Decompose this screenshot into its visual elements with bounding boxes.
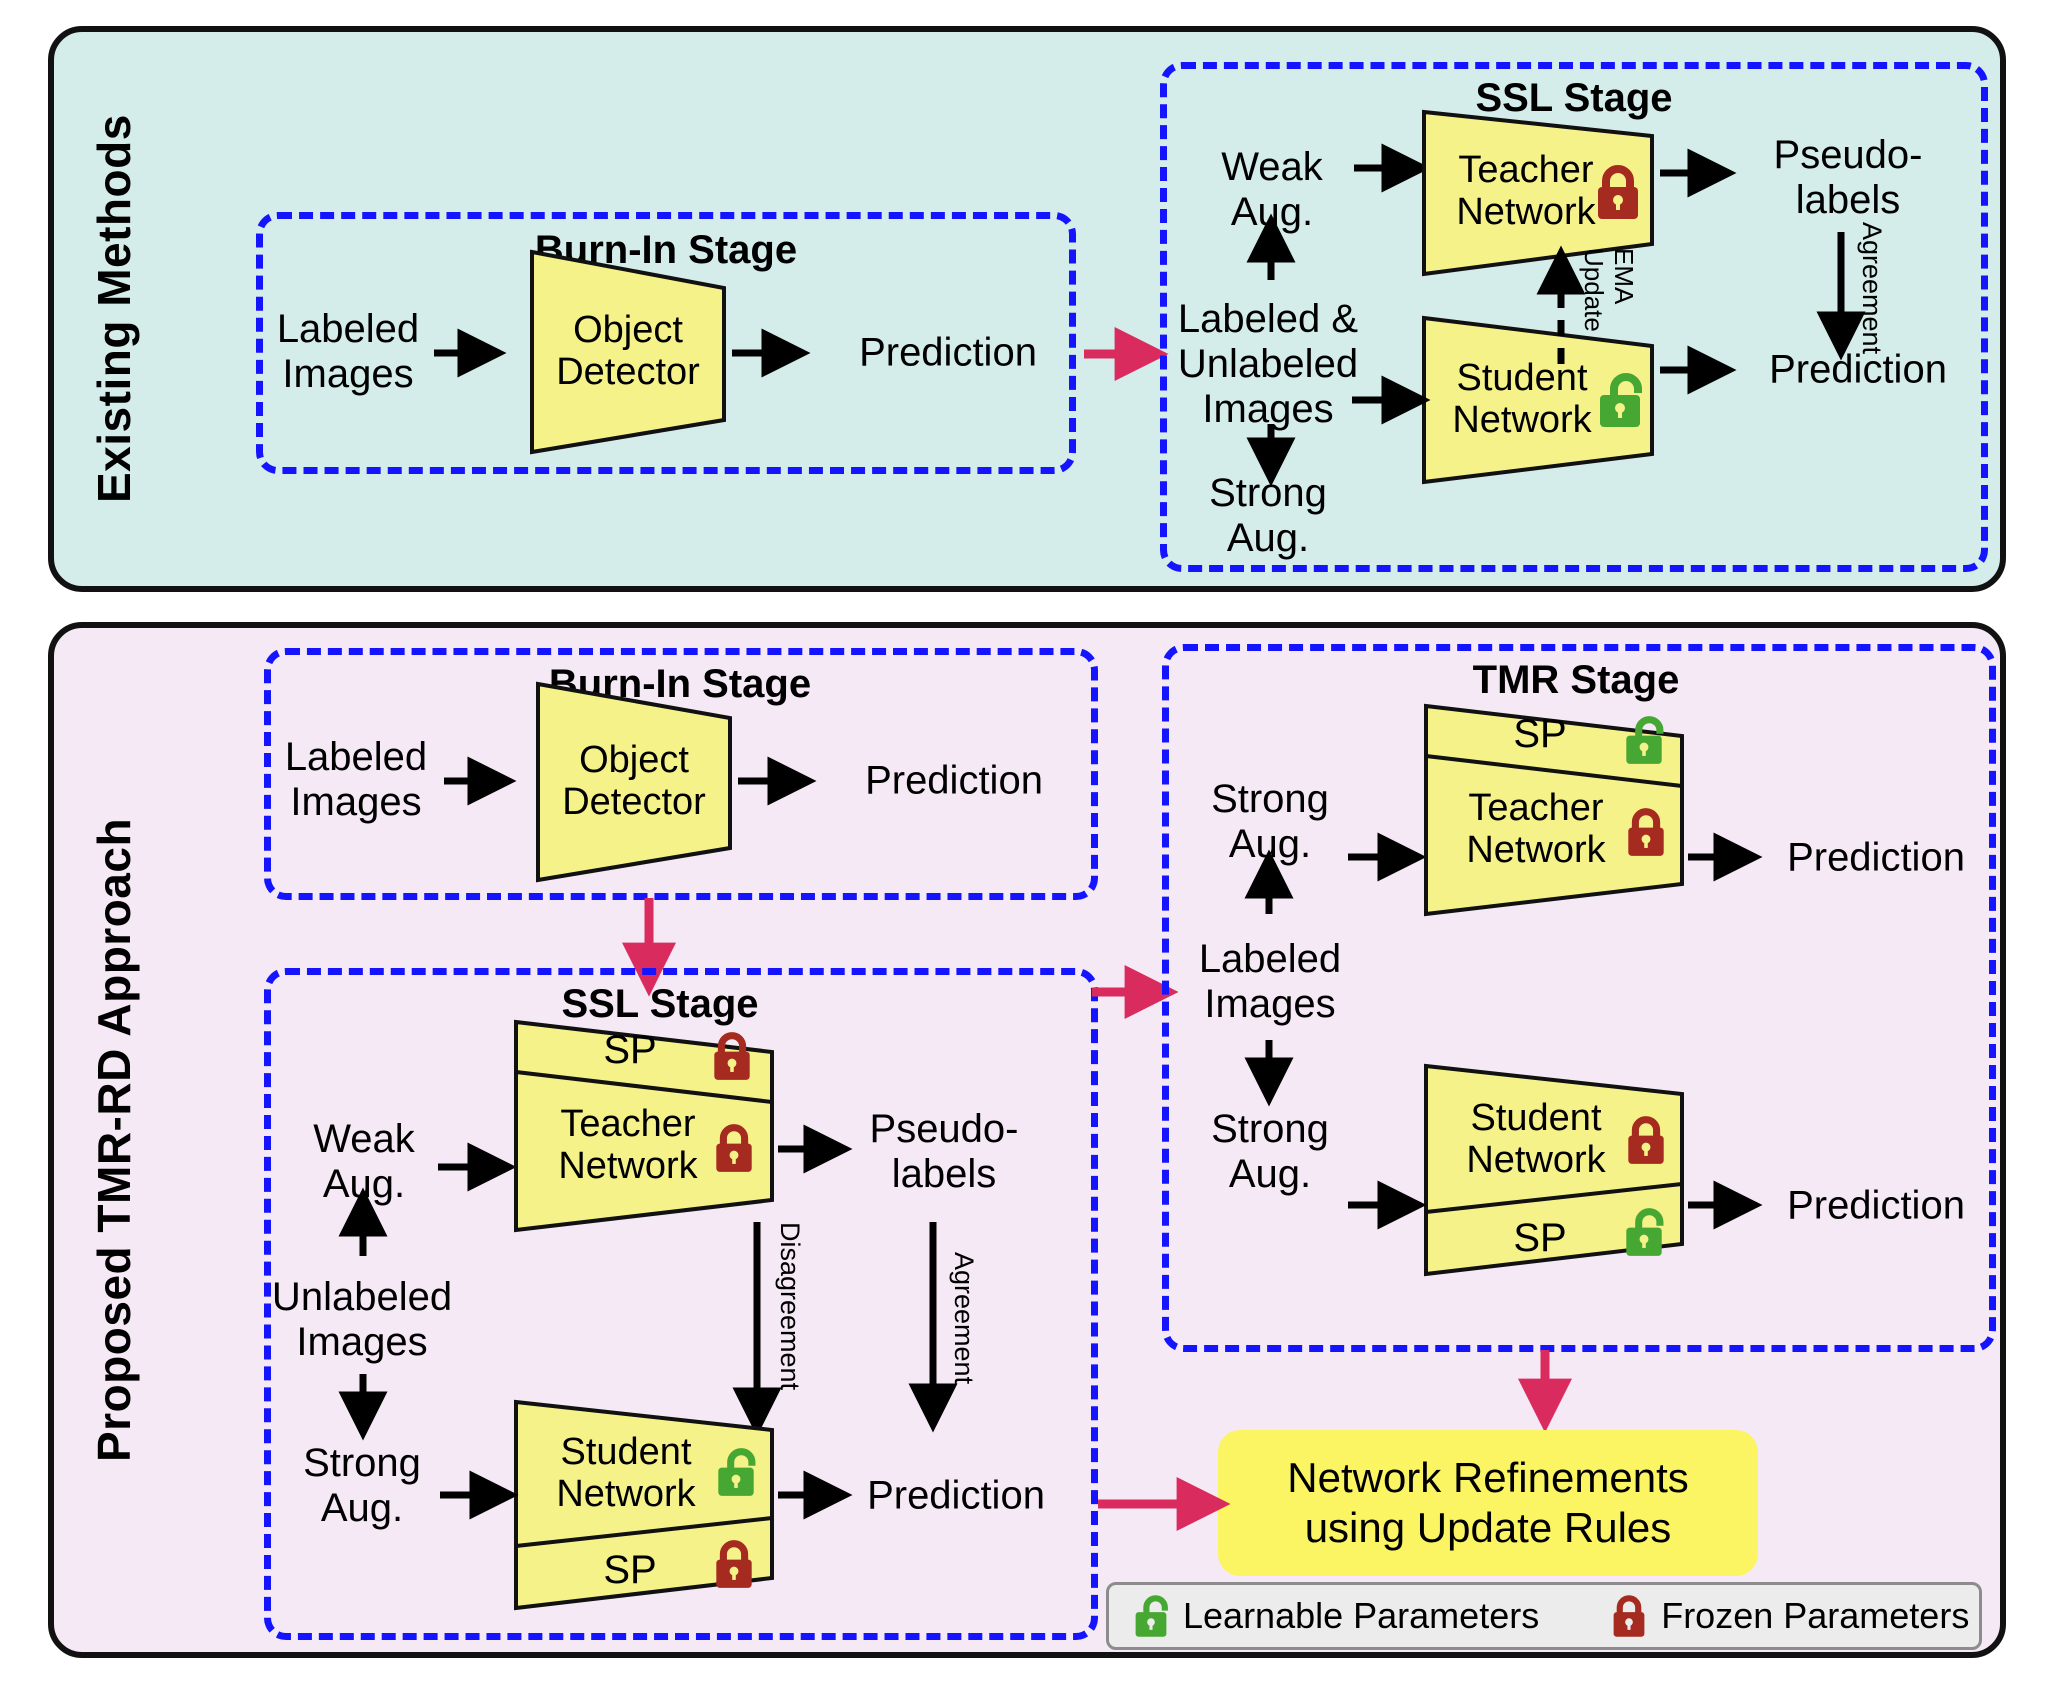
proposed-burn-in-output: Prediction: [865, 759, 1043, 804]
proposed-tmr-student-network: Student Network SP: [1420, 1062, 1688, 1298]
arrow-strong-aug-to-student: [1352, 385, 1438, 415]
arrow-detector-to-prediction: [732, 338, 818, 368]
existing-object-detector-label: Object Detector: [556, 310, 700, 394]
existing-student-label: Student Network: [1452, 358, 1591, 442]
network-refinements-box: Network Refinements using Update Rules: [1218, 1430, 1758, 1576]
arrow-teacher-to-pseudolabels: [1660, 158, 1744, 188]
proposed-tmr-title: TMR Stage: [1473, 658, 1680, 703]
proposed-ssl-teacher-network: SP Teacher Network: [510, 1018, 778, 1250]
existing-student-network: Student Network: [1420, 314, 1656, 486]
existing-ssl-strong-aug: Strong Aug.: [1209, 471, 1327, 561]
existing-methods-label: Existing Methods: [72, 42, 156, 576]
existing-ssl-source: Labeled & Unlabeled Images: [1178, 297, 1358, 431]
accent-arrow-tmr-to-refinement: [1528, 1350, 1562, 1442]
existing-burn-in-input: Labeled Images: [277, 307, 419, 397]
lock-learnable-icon: [1621, 713, 1667, 767]
proposed-ssl-pseudo-labels: Pseudo- labels: [870, 1107, 1019, 1197]
legend: Learnable Parameters Frozen Parameters: [1106, 1582, 1982, 1650]
arrow-input-to-detector: [434, 338, 514, 368]
existing-agreement-label: Agreement: [1856, 222, 1887, 354]
lock-frozen-icon: [711, 1121, 757, 1175]
arrow-student-to-prediction: [1660, 355, 1744, 385]
proposed-ssl-student-network: Student Network SP: [510, 1398, 778, 1630]
proposed-tmr-strong-aug-top: Strong Aug.: [1211, 777, 1329, 867]
proposed-ssl-source: Unlabeled Images: [272, 1275, 452, 1365]
proposed-tmr-teacher-sp-label: SP: [1513, 712, 1566, 756]
proposed-tmr-teacher-network: SP Teacher Network: [1420, 700, 1688, 936]
lock-learnable-icon: [1131, 1592, 1171, 1640]
lock-frozen-icon: [1623, 1113, 1669, 1167]
arrow-source-to-weak-aug: [1256, 218, 1286, 284]
lock-frozen-icon: [709, 1029, 755, 1083]
proposed-ssl-prediction: Prediction: [867, 1474, 1045, 1519]
existing-ema-update-label: EMA Update: [1578, 248, 1638, 332]
proposed-tmr-student-sp-label: SP: [1513, 1216, 1566, 1260]
proposed-disagreement-label: Disagreement: [774, 1222, 805, 1390]
lock-frozen-icon: [1592, 162, 1644, 222]
arrow-source-to-strong-aug-2: [348, 1374, 378, 1438]
proposed-tmr-strong-aug-bottom: Strong Aug.: [1211, 1107, 1329, 1197]
legend-item-learnable: Learnable Parameters: [1131, 1592, 1539, 1640]
proposed-approach-label: Proposed TMR-RD Approach: [72, 640, 156, 1640]
lock-frozen-icon: [1609, 1592, 1649, 1640]
proposed-tmr-teacher-prediction: Prediction: [1787, 836, 1965, 881]
proposed-tmr-teacher-label: Teacher Network: [1466, 788, 1605, 872]
proposed-object-detector-label: Object Detector: [562, 740, 706, 824]
lock-learnable-icon: [1621, 1205, 1667, 1259]
arrow-agreement-2: [918, 1222, 948, 1432]
legend-frozen-label: Frozen Parameters: [1661, 1595, 1969, 1637]
arrow-agreement: [1826, 232, 1856, 358]
proposed-agreement-label: Agreement: [948, 1252, 979, 1384]
accent-arrow-refinement-to-prediction: [1082, 1488, 1226, 1520]
existing-burn-in-output: Prediction: [859, 331, 1037, 376]
proposed-ssl-teacher-label: Teacher Network: [558, 1104, 697, 1188]
proposed-burn-in-input: Labeled Images: [285, 735, 427, 825]
legend-learnable-label: Learnable Parameters: [1183, 1595, 1539, 1637]
arrow-tmr-student-to-prediction: [1688, 1190, 1770, 1220]
arrow-strong-aug-to-student-tmr: [1348, 1190, 1434, 1220]
arrow-input-to-detector-2: [444, 766, 524, 796]
arrow-ema-update: [1546, 248, 1576, 368]
arrow-tmr-teacher-to-prediction: [1688, 842, 1770, 872]
existing-ssl-pseudo-labels: Pseudo- labels: [1774, 133, 1923, 223]
existing-teacher-label: Teacher Network: [1456, 150, 1595, 234]
lock-learnable-icon: [1594, 370, 1646, 430]
legend-item-frozen: Frozen Parameters: [1609, 1592, 1969, 1640]
arrow-detector-to-prediction-2: [738, 766, 824, 796]
proposed-tmr-source: Labeled Images: [1199, 937, 1341, 1027]
proposed-object-detector: Object Detector: [534, 676, 734, 884]
proposed-ssl-student-label: Student Network: [556, 1432, 695, 1516]
proposed-ssl-student-sp-label: SP: [603, 1548, 656, 1592]
arrow-student-to-prediction-2: [778, 1480, 860, 1510]
arrow-source-to-weak-aug-2: [348, 1192, 378, 1262]
arrow-source-to-strong-aug-bottom: [1254, 1040, 1284, 1104]
proposed-tmr-student-prediction: Prediction: [1787, 1184, 1965, 1229]
figure-root: Existing Methods Burn-In Stage Labeled I…: [0, 0, 2050, 1684]
lock-frozen-icon: [711, 1537, 757, 1591]
proposed-tmr-student-label: Student Network: [1466, 1098, 1605, 1182]
arrow-strong-aug-to-student-2: [440, 1480, 526, 1510]
lock-frozen-icon: [1623, 805, 1669, 859]
proposed-ssl-strong-aug: Strong Aug.: [303, 1441, 421, 1531]
arrow-teacher-to-pseudolabels-2: [778, 1134, 860, 1164]
existing-ssl-prediction: Prediction: [1769, 348, 1947, 393]
lock-learnable-icon: [713, 1445, 759, 1499]
arrow-source-to-strong-aug-top: [1254, 856, 1284, 920]
existing-object-detector: Object Detector: [528, 244, 728, 456]
proposed-ssl-teacher-sp-label: SP: [603, 1028, 656, 1072]
